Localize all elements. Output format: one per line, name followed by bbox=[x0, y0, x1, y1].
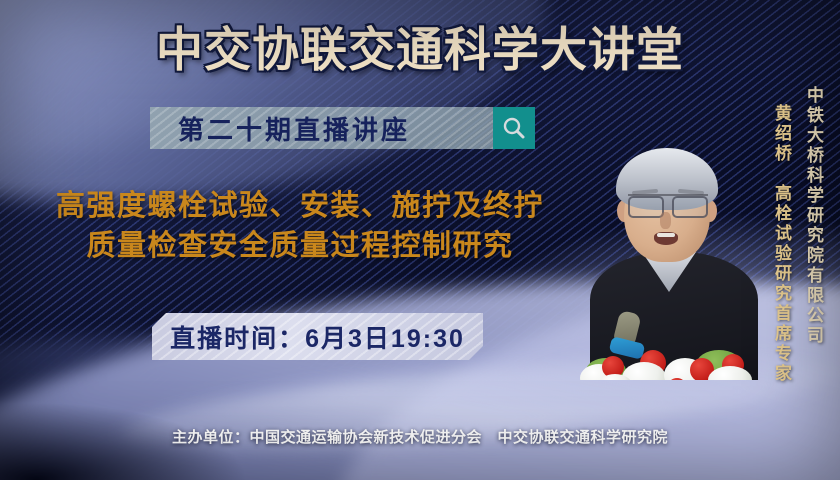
speaker-name-role: 黄绍桥 高栓试验研究首席专家 bbox=[769, 104, 794, 384]
flower-bouquet bbox=[580, 328, 765, 380]
bottom-left-shadow bbox=[0, 360, 360, 480]
organizer-footer: 主办单位：中国交通运输协会新技术促进分会 中交协联交通科学研究院 bbox=[0, 426, 840, 447]
poster-canvas: 中交协联交通科学大讲堂 第二十期直播讲座 高强度螺栓试验、安装、施拧及终拧 质量… bbox=[0, 0, 840, 480]
speaker-nose bbox=[660, 212, 671, 229]
session-bar: 第二十期直播讲座 bbox=[150, 107, 535, 149]
topic-line-2: 质量检查安全质量过程控制研究 bbox=[0, 226, 600, 266]
broadcast-time-text: 直播时间：6月3日19:30 bbox=[170, 319, 465, 355]
speaker-organization: 中铁大桥科学研究院有限公司 bbox=[801, 86, 826, 346]
lecture-topic: 高强度螺栓试验、安装、施拧及终拧 质量检查安全质量过程控制研究 bbox=[0, 186, 600, 266]
broadcast-time-badge: 直播时间：6月3日19:30 bbox=[152, 313, 483, 360]
page-title: 中交协联交通科学大讲堂 bbox=[0, 22, 840, 78]
session-label: 第二十期直播讲座 bbox=[150, 110, 410, 147]
search-icon[interactable] bbox=[493, 107, 535, 149]
topic-line-1: 高强度螺栓试验、安装、施拧及终拧 bbox=[56, 190, 544, 222]
speaker-mouth bbox=[654, 232, 678, 245]
speaker-photo bbox=[580, 140, 765, 380]
